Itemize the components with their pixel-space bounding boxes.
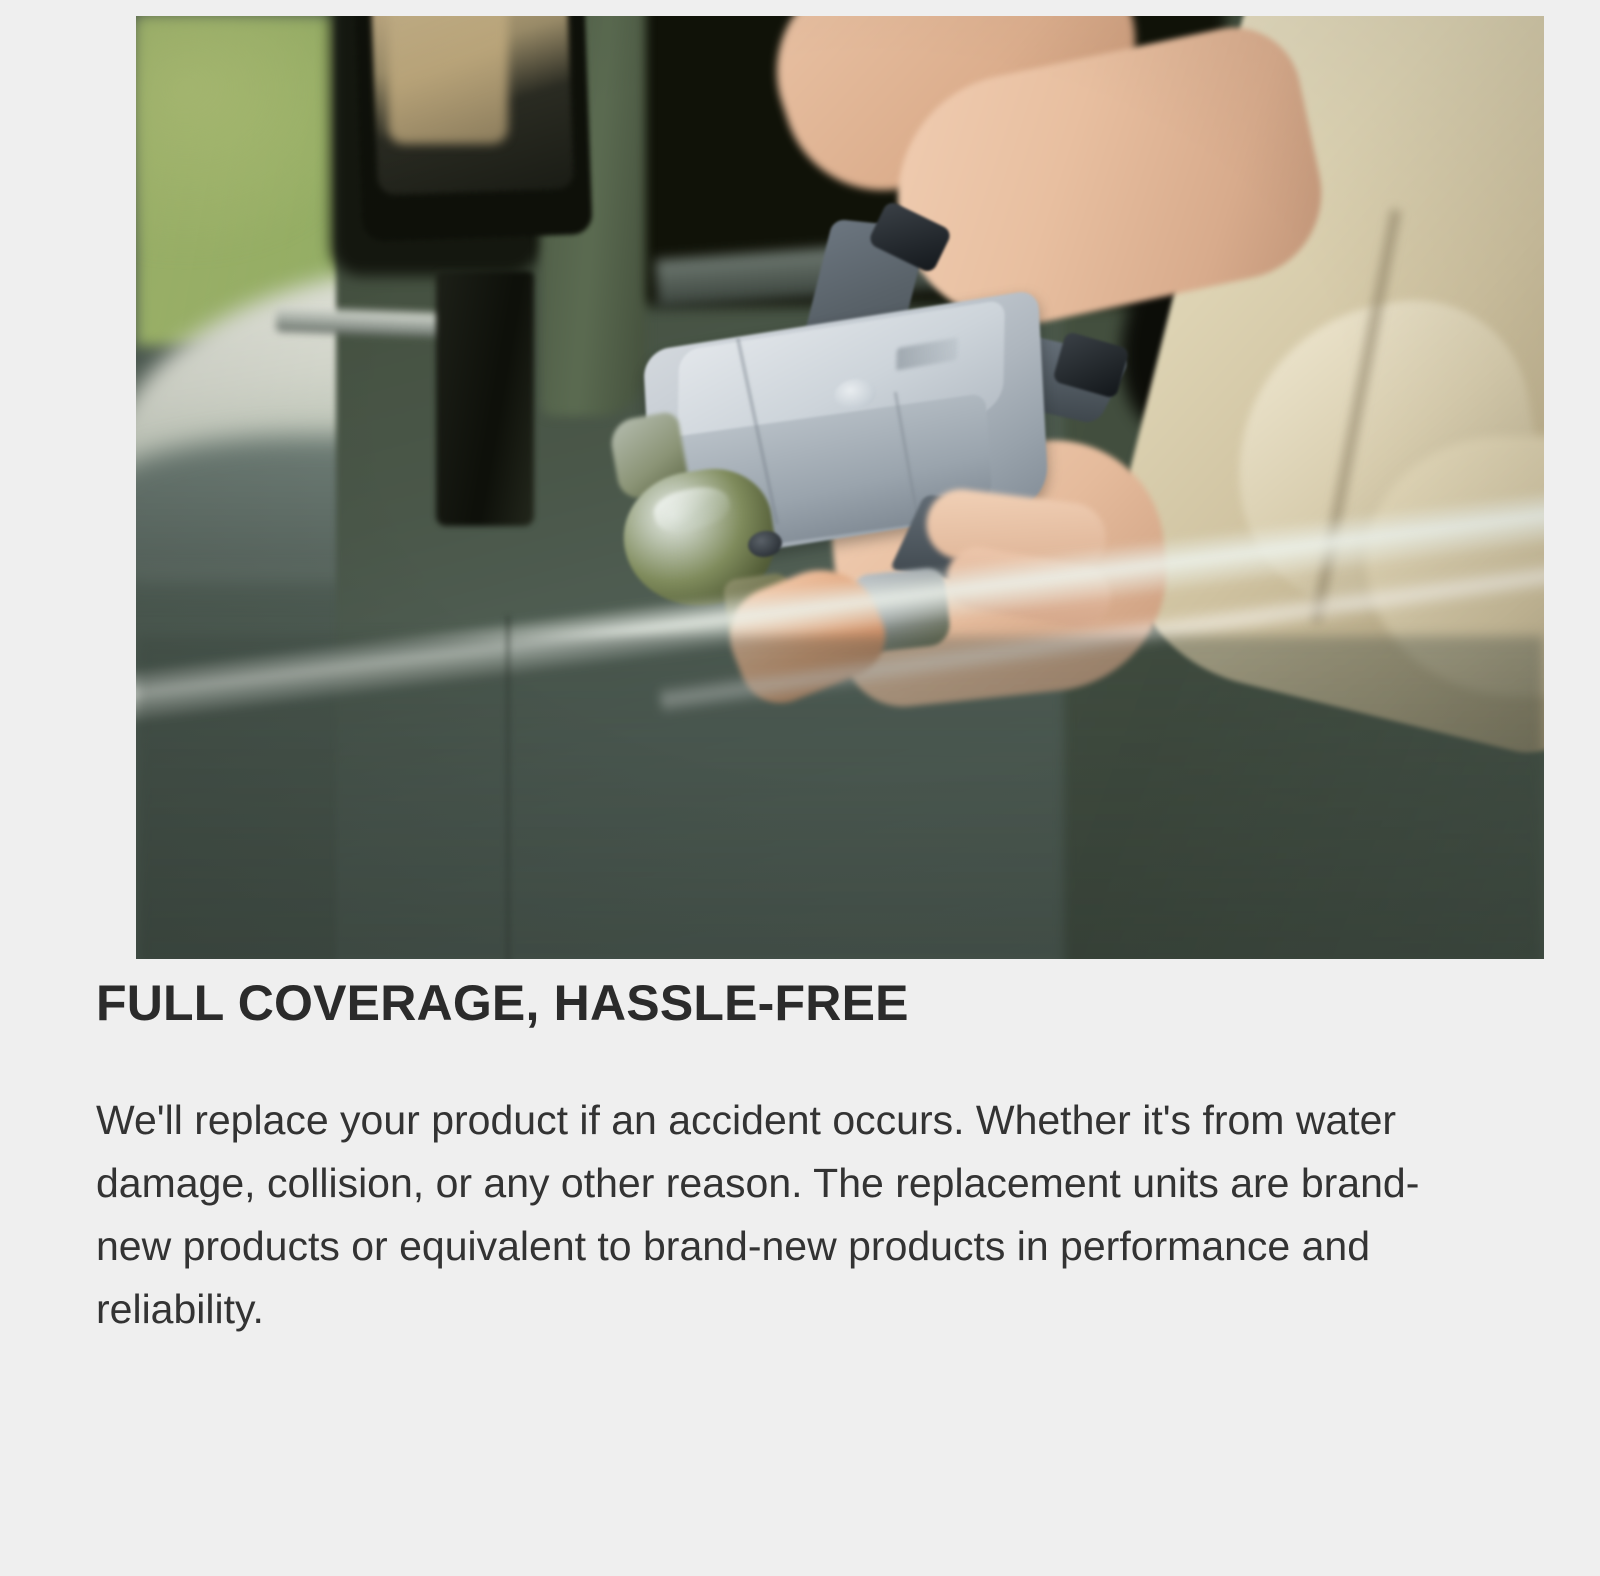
section-heading: FULL COVERAGE, HASSLE-FREE [96,975,1426,1031]
mirror-reflection-sleeve [388,16,508,144]
vehicle-lower-shading [136,636,1544,959]
hero-photo-composition [136,16,1544,959]
side-mirror-stem [436,271,534,526]
section-body-text: We'll replace your product if an acciden… [96,1089,1426,1342]
feature-text-block: FULL COVERAGE, HASSLE-FREE We'll replace… [96,975,1426,1342]
hero-image [136,16,1544,959]
product-feature-section: FULL COVERAGE, HASSLE-FREE We'll replace… [0,0,1600,1576]
